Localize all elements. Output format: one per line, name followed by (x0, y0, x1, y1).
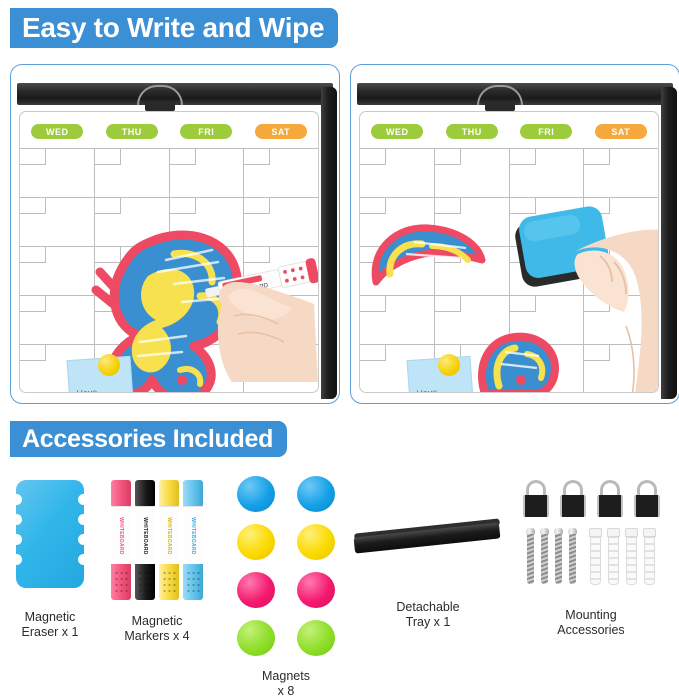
accessory-magnets-label: Magnets x 8 (226, 669, 346, 699)
day-pill-fri: FRI (180, 124, 232, 139)
day-pill-fri: FRI (520, 124, 572, 139)
magnets-product-image (226, 476, 346, 656)
calendar-sheet-left: WED THU FRI SAT (19, 111, 319, 393)
board-top-rail (17, 83, 333, 105)
d-ring-hanger (633, 480, 661, 522)
magnet-green (297, 620, 335, 656)
accessory-markers-label: Magnetic Markers x 4 (98, 614, 216, 644)
mounting-product-image (508, 480, 674, 602)
whiteboard-panel-wiping: WED THU FRI SAT (350, 64, 679, 404)
d-ring-hanger (559, 480, 587, 522)
accessory-mounting-label: Mounting Accessories (508, 608, 674, 638)
screws (526, 528, 577, 585)
eraser-product-image (16, 480, 84, 588)
day-pill-sat: SAT (255, 124, 307, 139)
section-banner-accessories: Accessories Included (10, 421, 287, 457)
magnet-blue (237, 476, 275, 512)
butterfly-remnant-top (370, 220, 490, 290)
day-pill-thu: THU (446, 124, 498, 139)
magnet-pink (237, 572, 275, 608)
yellow-magnet-on-note (438, 354, 460, 376)
calendar-sheet-right: WED THU FRI SAT (359, 111, 659, 393)
magnet-blue (297, 476, 335, 512)
day-pill-wed: WED (31, 124, 83, 139)
accessory-magnets: Magnets x 8 (226, 476, 346, 699)
marker-blue: WHITEBOARD (183, 480, 203, 600)
sticky-note-text: Have (416, 387, 438, 393)
day-pill-wed: WED (371, 124, 423, 139)
whiteboard-panel-writing: WED THU FRI SAT (10, 64, 340, 404)
d-ring-hanger (596, 480, 624, 522)
screw (568, 528, 577, 585)
markers-product-image: WHITEBOARD WHITEBOARD WHITEBOARD WHITEBO… (98, 480, 216, 600)
hanger-clip (145, 101, 175, 111)
yellow-magnet-on-note (98, 354, 120, 376)
calendar-row (360, 148, 658, 197)
hand-with-marker: WHITEBOARD (188, 242, 318, 382)
screw (540, 528, 549, 585)
screw (554, 528, 563, 585)
accessory-mounting: Mounting Accessories (508, 480, 674, 638)
marker-pink: WHITEBOARD (111, 480, 131, 600)
magnet-pink (297, 572, 335, 608)
accessory-tray-label: Detachable Tray x 1 (348, 600, 508, 630)
tray-product-image (348, 480, 508, 596)
hanger-clip (485, 101, 515, 111)
accessory-tray: Detachable Tray x 1 (348, 480, 508, 630)
calendar-day-header-right: WED THU FRI SAT (360, 124, 658, 140)
wall-anchors (589, 528, 656, 585)
magnet-yellow (297, 524, 335, 560)
marker-black: WHITEBOARD (135, 480, 155, 600)
calendar-row (20, 197, 318, 246)
hand-with-eraser (512, 200, 659, 393)
magnet-green (237, 620, 275, 656)
screw (526, 528, 535, 585)
board-top-rail (357, 83, 673, 105)
d-ring-hangers (508, 480, 674, 522)
marker-label-text: WHITEBOARD (118, 517, 124, 554)
marker-label-text: WHITEBOARD (166, 517, 172, 554)
marker-yellow: WHITEBOARD (159, 480, 179, 600)
board-right-edge (661, 87, 677, 399)
wall-anchor (643, 528, 656, 585)
wall-anchor (625, 528, 638, 585)
calendar-row (20, 148, 318, 197)
accessory-markers: WHITEBOARD WHITEBOARD WHITEBOARD WHITEBO… (98, 480, 216, 644)
marker-label-text: WHITEBOARD (190, 517, 196, 554)
wall-anchor (607, 528, 620, 585)
sticky-note-text: Have (76, 387, 98, 393)
board-right-edge (321, 87, 337, 399)
day-pill-sat: SAT (595, 124, 647, 139)
wall-anchor (589, 528, 602, 585)
marker-label-text: WHITEBOARD (142, 517, 148, 554)
accessory-eraser-label: Magnetic Eraser x 1 (4, 610, 96, 640)
section-banner-write: Easy to Write and Wipe (10, 8, 338, 48)
accessory-eraser: Magnetic Eraser x 1 (4, 480, 96, 640)
calendar-day-header-left: WED THU FRI SAT (20, 124, 318, 140)
day-pill-thu: THU (106, 124, 158, 139)
d-ring-hanger (522, 480, 550, 522)
magnet-yellow (237, 524, 275, 560)
